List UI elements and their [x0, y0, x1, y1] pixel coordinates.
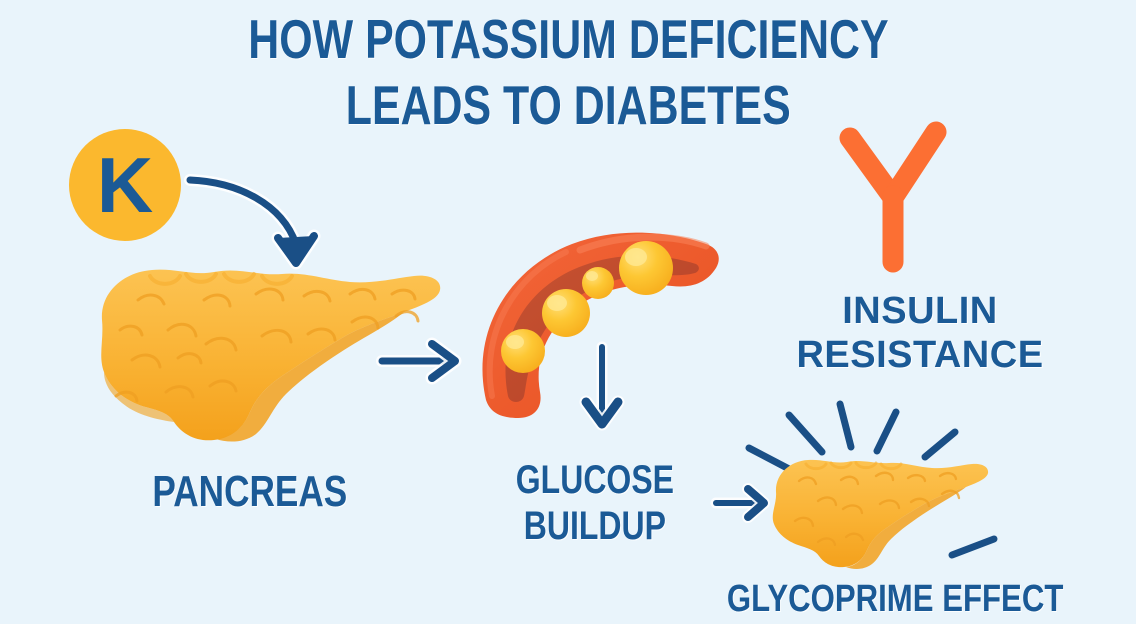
- label-insulin-resistance: INSULIN RESISTANCE: [760, 292, 1080, 374]
- label-glucose-buildup: GLUCOSE BUILDUP: [470, 460, 720, 546]
- potassium-symbol: K: [70, 146, 180, 224]
- pancreas-icon-secondary: [773, 460, 988, 569]
- arrow-pancreas-to-vessel: [382, 344, 455, 378]
- page-title-line-1: HOW POTASSIUM DEFICIENCY: [0, 12, 1136, 67]
- shine-burst-icon: [749, 404, 994, 555]
- blood-vessel-icon: [482, 233, 718, 418]
- label-pancreas: PANCREAS: [0, 470, 500, 514]
- pancreas-icon-primary: [101, 270, 440, 442]
- label-insulin-line-1: INSULIN: [760, 292, 1080, 330]
- label-glycoprime-effect: GLYCOPRIME EFFECT: [690, 580, 1090, 618]
- label-insulin-line-2: RESISTANCE: [760, 336, 1080, 374]
- glucose-molecule-icon: [501, 241, 673, 373]
- arrow-glucose-to-glycoprime: [716, 489, 764, 517]
- page-title-line-2: LEADS TO DIABETES: [0, 78, 1136, 133]
- insulin-receptor-y-icon: [850, 132, 936, 262]
- arrow-vessel-to-glucose: [586, 347, 618, 424]
- label-glucose-line-2: BUILDUP: [524, 506, 666, 546]
- label-glucose-line-1: GLUCOSE: [516, 460, 674, 500]
- arrow-potassium-to-pancreas: [190, 180, 314, 263]
- infographic-canvas: HOW POTASSIUM DEFICIENCY LEADS TO DIABET…: [0, 0, 1136, 624]
